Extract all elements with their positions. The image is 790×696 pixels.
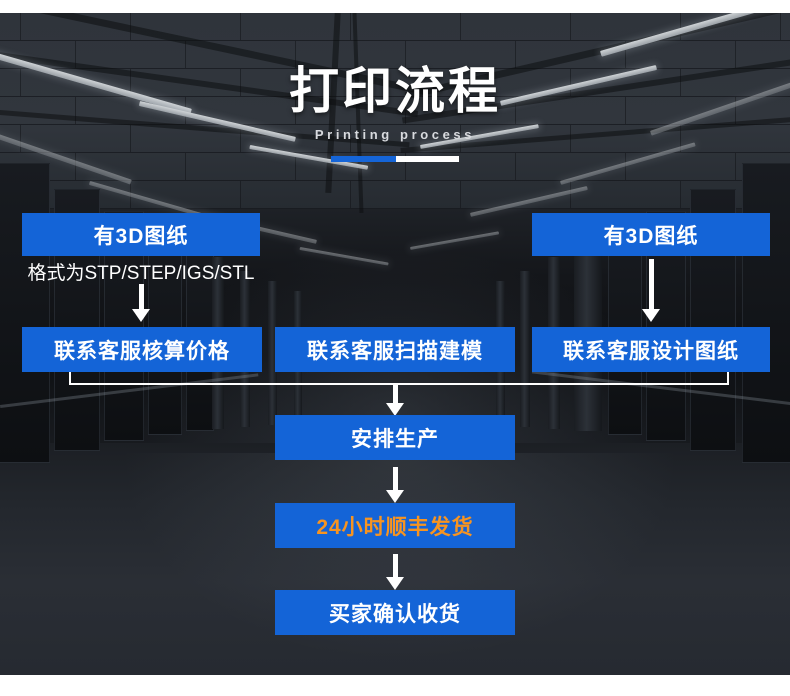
flow-box-contact-service-quote[interactable]: 联系客服核算价格 (22, 327, 262, 372)
flow-box-buyer-confirm-receipt[interactable]: 买家确认收货 (275, 590, 515, 635)
arrow-down-icon (385, 554, 405, 590)
flow-box-has-3d-drawing-left[interactable]: 有3D图纸 (22, 213, 260, 256)
wall-bay (0, 163, 50, 463)
arrow-down-icon (385, 467, 405, 503)
drawing-format-caption: 格式为STP/STEP/IGS/STL (22, 258, 260, 285)
support-pillar (520, 271, 530, 427)
printing-process-infographic: 打印流程 Printing process 有3D图纸 有3D图纸 格式为STP… (0, 0, 790, 696)
page-heading: 打印流程 Printing process (0, 62, 790, 162)
flow-box-contact-service-scan-model[interactable]: 联系客服扫描建模 (275, 327, 515, 372)
wall-bay (742, 163, 790, 463)
flow-box-arrange-production[interactable]: 安排生产 (275, 415, 515, 460)
title-underline-white-segment (396, 156, 459, 162)
flow-box-ship-24h-sf-express[interactable]: 24小时顺丰发货 (275, 503, 515, 548)
bottom-white-margin (0, 675, 790, 696)
page-subtitle: Printing process (0, 127, 790, 142)
title-underline (331, 156, 459, 162)
flow-box-has-3d-drawing-right[interactable]: 有3D图纸 (532, 213, 770, 256)
page-title: 打印流程 (0, 62, 790, 120)
arrow-down-icon (641, 259, 661, 322)
top-white-margin (0, 0, 790, 13)
arrow-down-icon (131, 284, 151, 322)
flow-box-contact-service-design[interactable]: 联系客服设计图纸 (532, 327, 770, 372)
arrow-down-icon (385, 384, 405, 416)
title-underline-blue-segment (331, 156, 396, 162)
